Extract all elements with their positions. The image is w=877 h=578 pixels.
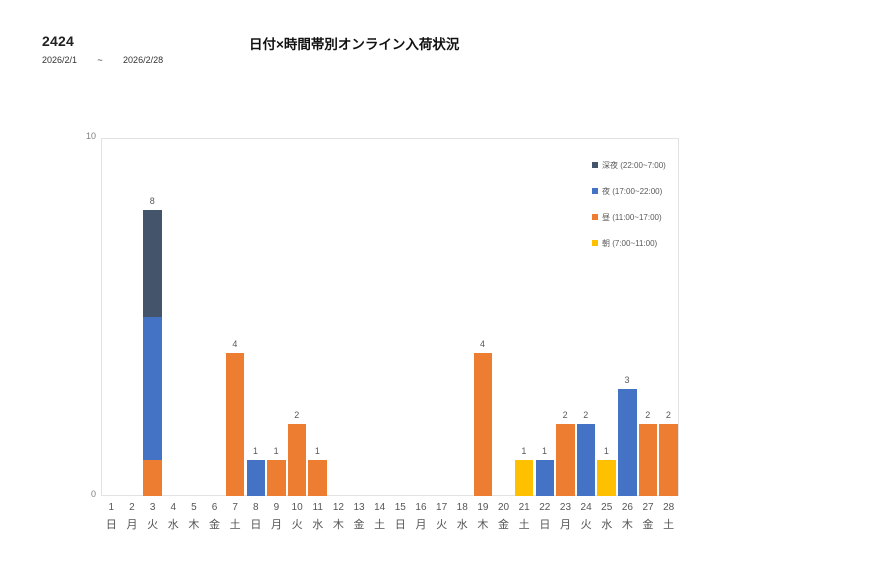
x-tick-weekday: 金 [204, 516, 225, 534]
bar-segment-day[interactable] [143, 460, 162, 496]
x-tick-weekday: 日 [390, 516, 411, 534]
bar-segment-day[interactable] [226, 353, 245, 496]
x-tick-day: 25 [596, 500, 617, 516]
bar-slot [204, 138, 225, 496]
x-tick-day: 28 [658, 500, 679, 516]
x-tick-day: 10 [287, 500, 308, 516]
bar-column[interactable] [288, 424, 307, 496]
x-tick-day: 23 [555, 500, 576, 516]
bar-slot: 4 [225, 138, 246, 496]
bar-slot [184, 138, 205, 496]
x-tick-day: 22 [535, 500, 556, 516]
x-tick-weekday: 金 [638, 516, 659, 534]
x-tick-weekday: 日 [101, 516, 122, 534]
date-range-to: 2026/2/28 [123, 55, 163, 65]
date-range-separator: ~ [77, 55, 123, 65]
bar-segment-night[interactable] [143, 210, 162, 317]
bar-column[interactable] [515, 460, 534, 496]
bar-segment-day[interactable] [288, 424, 307, 496]
x-tick-day: 17 [431, 500, 452, 516]
x-tick-weekday: 木 [328, 516, 349, 534]
x-tick: 27金 [638, 500, 659, 534]
bar-column[interactable] [577, 424, 596, 496]
x-tick-day: 24 [576, 500, 597, 516]
x-tick-weekday: 水 [307, 516, 328, 534]
x-tick: 11水 [307, 500, 328, 534]
legend-item-evening[interactable]: 夜 (17:00~22:00) [592, 178, 684, 204]
x-tick-day: 2 [122, 500, 143, 516]
x-tick: 17火 [431, 500, 452, 534]
x-tick: 13金 [349, 500, 370, 534]
bar-column[interactable] [597, 460, 616, 496]
x-tick-weekday: 土 [369, 516, 390, 534]
x-tick: 28土 [658, 500, 679, 534]
x-tick: 14土 [369, 500, 390, 534]
bar-column[interactable] [143, 210, 162, 496]
x-tick-weekday: 木 [617, 516, 638, 534]
x-tick-weekday: 日 [535, 516, 556, 534]
legend-item-night[interactable]: 深夜 (22:00~7:00) [592, 152, 684, 178]
x-tick: 15日 [390, 500, 411, 534]
legend-swatch-icon [592, 162, 598, 168]
y-axis-max-label: 10 [72, 131, 96, 141]
bar-slot: 1 [266, 138, 287, 496]
bar-column[interactable] [639, 424, 658, 496]
bar-segment-evening[interactable] [618, 389, 637, 496]
x-tick-day: 9 [266, 500, 287, 516]
bar-column[interactable] [618, 389, 637, 496]
chart-legend: 深夜 (22:00~7:00)夜 (17:00~22:00)昼 (11:00~1… [592, 152, 684, 256]
x-tick-day: 21 [514, 500, 535, 516]
x-tick-day: 26 [617, 500, 638, 516]
report-id: 2424 [42, 33, 74, 49]
bar-segment-evening[interactable] [577, 424, 596, 496]
x-tick: 9月 [266, 500, 287, 534]
bar-slot [349, 138, 370, 496]
bar-slot [493, 138, 514, 496]
chart-page: 2424 2026/2/1~2026/2/28 日付×時間帯別オンライン入荷状況… [0, 0, 877, 578]
bar-slot: 2 [555, 138, 576, 496]
x-tick: 3火 [142, 500, 163, 534]
date-range: 2026/2/1~2026/2/28 [42, 55, 163, 65]
x-tick-day: 1 [101, 500, 122, 516]
x-tick-weekday: 火 [142, 516, 163, 534]
x-tick-day: 15 [390, 500, 411, 516]
x-tick-weekday: 火 [287, 516, 308, 534]
bar-segment-evening[interactable] [143, 317, 162, 460]
legend-label: 深夜 (22:00~7:00) [602, 160, 666, 171]
bar-slot [122, 138, 143, 496]
x-tick-day: 12 [328, 500, 349, 516]
x-tick-weekday: 月 [266, 516, 287, 534]
x-tick: 20金 [493, 500, 514, 534]
x-tick: 2月 [122, 500, 143, 534]
x-tick-weekday: 土 [658, 516, 679, 534]
bar-segment-morning[interactable] [597, 460, 616, 496]
x-tick: 19木 [473, 500, 494, 534]
chart-title: 日付×時間帯別オンライン入荷状況 [249, 33, 459, 53]
bar-slot [369, 138, 390, 496]
bar-slot: 1 [246, 138, 267, 496]
legend-label: 夜 (17:00~22:00) [602, 186, 662, 197]
x-tick-weekday: 水 [452, 516, 473, 534]
x-tick-weekday: 木 [473, 516, 494, 534]
bar-value-label: 2 [654, 410, 682, 420]
bar-segment-morning[interactable] [515, 460, 534, 496]
bar-slot [411, 138, 432, 496]
bar-segment-day[interactable] [474, 353, 493, 496]
y-axis-min-label: 0 [72, 489, 96, 499]
bar-slot [101, 138, 122, 496]
x-tick-weekday: 火 [431, 516, 452, 534]
x-tick-day: 8 [246, 500, 267, 516]
x-tick: 8日 [246, 500, 267, 534]
x-tick-weekday: 水 [596, 516, 617, 534]
x-tick: 16月 [411, 500, 432, 534]
bar-column[interactable] [659, 424, 678, 496]
bar-slot [452, 138, 473, 496]
x-tick: 5木 [184, 500, 205, 534]
x-tick-day: 6 [204, 500, 225, 516]
x-tick-weekday: 土 [514, 516, 535, 534]
bar-column[interactable] [267, 460, 286, 496]
bar-column[interactable] [536, 460, 555, 496]
x-tick-day: 4 [163, 500, 184, 516]
bar-slot: 4 [473, 138, 494, 496]
legend-swatch-icon [592, 188, 598, 194]
x-tick-day: 18 [452, 500, 473, 516]
legend-item-morning[interactable]: 朝 (7:00~11:00) [592, 230, 684, 256]
x-tick-weekday: 金 [349, 516, 370, 534]
x-tick: 23月 [555, 500, 576, 534]
x-tick-day: 13 [349, 500, 370, 516]
bar-column[interactable] [474, 353, 493, 496]
x-tick: 25水 [596, 500, 617, 534]
legend-swatch-icon [592, 214, 598, 220]
legend-swatch-icon [592, 240, 598, 246]
x-tick-weekday: 月 [122, 516, 143, 534]
bar-segment-evening[interactable] [536, 460, 555, 496]
bar-slot [390, 138, 411, 496]
x-tick-weekday: 金 [493, 516, 514, 534]
bar-slot: 1 [307, 138, 328, 496]
x-tick-day: 27 [638, 500, 659, 516]
x-tick-day: 19 [473, 500, 494, 516]
bar-slot [431, 138, 452, 496]
x-axis-labels: 1日2月3火4水5木6金7土8日9月10火11水12木13金14土15日16月1… [101, 500, 679, 548]
bar-segment-day[interactable] [639, 424, 658, 496]
legend-label: 朝 (7:00~11:00) [602, 238, 657, 249]
bar-segment-day[interactable] [308, 460, 327, 496]
bar-slot: 2 [287, 138, 308, 496]
x-tick: 1日 [101, 500, 122, 534]
x-tick: 10火 [287, 500, 308, 534]
x-tick-weekday: 月 [555, 516, 576, 534]
x-tick: 18水 [452, 500, 473, 534]
x-tick-weekday: 土 [225, 516, 246, 534]
x-tick: 6金 [204, 500, 225, 534]
bar-segment-day[interactable] [267, 460, 286, 496]
x-tick-weekday: 日 [246, 516, 267, 534]
bar-segment-day[interactable] [659, 424, 678, 496]
legend-label: 昼 (11:00~17:00) [602, 212, 662, 223]
bar-slot: 1 [535, 138, 556, 496]
x-tick-day: 16 [411, 500, 432, 516]
bar-column[interactable] [308, 460, 327, 496]
x-tick-day: 5 [184, 500, 205, 516]
bar-segment-day[interactable] [556, 424, 575, 496]
x-tick: 26木 [617, 500, 638, 534]
bar-slot: 8 [142, 138, 163, 496]
x-tick: 21土 [514, 500, 535, 534]
date-range-from: 2026/2/1 [42, 55, 77, 65]
bar-slot: 1 [514, 138, 535, 496]
x-tick: 7土 [225, 500, 246, 534]
x-tick: 4水 [163, 500, 184, 534]
x-tick-day: 14 [369, 500, 390, 516]
x-tick-weekday: 木 [184, 516, 205, 534]
x-tick-day: 11 [307, 500, 328, 516]
x-tick-day: 20 [493, 500, 514, 516]
x-tick-weekday: 水 [163, 516, 184, 534]
x-tick-day: 7 [225, 500, 246, 516]
bar-slot [163, 138, 184, 496]
bar-slot [328, 138, 349, 496]
x-tick-weekday: 火 [576, 516, 597, 534]
legend-item-day[interactable]: 昼 (11:00~17:00) [592, 204, 684, 230]
bar-column[interactable] [247, 460, 266, 496]
x-tick: 22日 [535, 500, 556, 534]
bar-segment-evening[interactable] [247, 460, 266, 496]
x-tick-weekday: 月 [411, 516, 432, 534]
x-tick: 12木 [328, 500, 349, 534]
x-tick-day: 3 [142, 500, 163, 516]
bar-column[interactable] [226, 353, 245, 496]
bar-column[interactable] [556, 424, 575, 496]
x-tick: 24火 [576, 500, 597, 534]
